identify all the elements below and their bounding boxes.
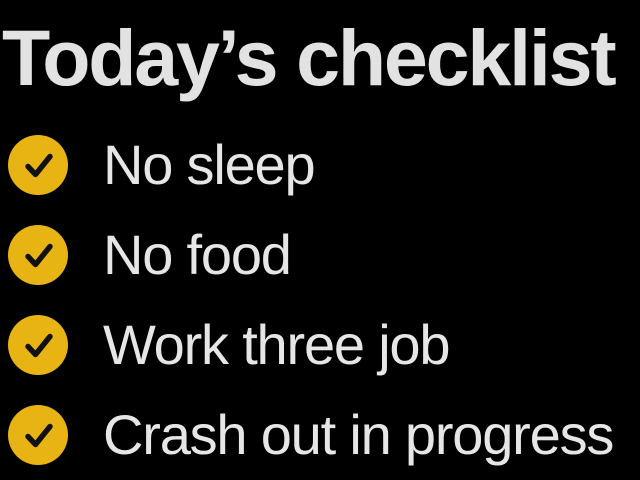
- list-item[interactable]: No food: [0, 210, 640, 300]
- list-item[interactable]: No sleep: [0, 120, 640, 210]
- check-mark-icon[interactable]: [8, 135, 68, 195]
- checklist: No sleep No food Work three job: [0, 120, 640, 480]
- list-item[interactable]: Work three job: [0, 300, 640, 390]
- list-item-label: Work three job: [103, 315, 449, 375]
- list-item[interactable]: Crash out in progress: [0, 390, 640, 480]
- check-mark-icon[interactable]: [8, 405, 68, 465]
- check-mark-icon[interactable]: [8, 315, 68, 375]
- list-item-label: No food: [103, 225, 291, 285]
- list-item-label: Crash out in progress: [103, 405, 613, 465]
- check-mark-icon[interactable]: [8, 225, 68, 285]
- page-title: Today’s checklist: [2, 14, 640, 102]
- list-item-label: No sleep: [103, 135, 314, 195]
- checklist-screen: Today’s checklist No sleep No food: [0, 0, 640, 480]
